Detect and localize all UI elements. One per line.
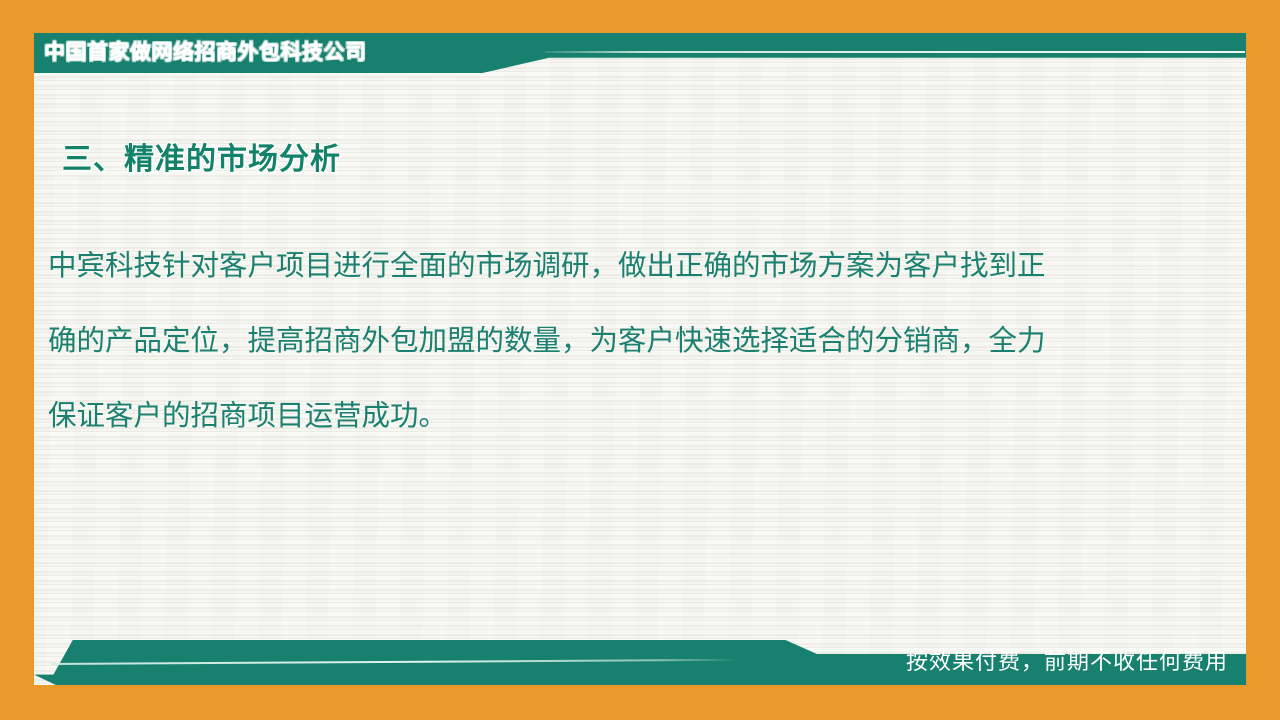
- header-title: 中国首家做网络招商外包科技公司: [44, 35, 367, 69]
- header-sheen-line: [545, 51, 1245, 53]
- body-paragraph-line: 保证客户的招商项目运营成功。: [48, 378, 1188, 453]
- body-paragraph: 中宾科技针对客户项目进行全面的市场调研，做出正确的市场方案为客户找到正 确的产品…: [48, 228, 1188, 453]
- body-paragraph-line: 中宾科技针对客户项目进行全面的市场调研，做出正确的市场方案为客户找到正: [48, 228, 1188, 303]
- section-heading: 三、精准的市场分析: [62, 134, 341, 178]
- slide-canvas: 中国首家做网络招商外包科技公司 三、精准的市场分析 中宾科技针对客户项目进行全面…: [0, 0, 1280, 720]
- footer-tagline: 按效果付费，前期不收任何费用: [906, 647, 1228, 679]
- body-paragraph-line: 确的产品定位，提高招商外包加盟的数量，为客户快速选择适合的分销商，全力: [48, 303, 1188, 378]
